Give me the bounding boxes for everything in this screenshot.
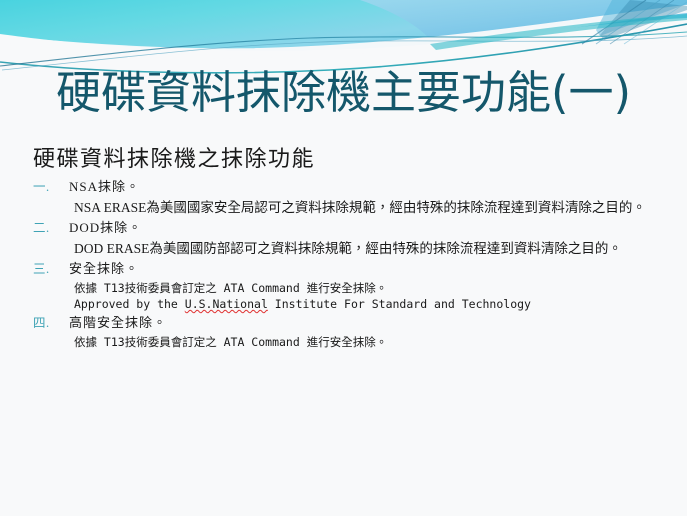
list-marker: 三. — [33, 261, 69, 277]
erase-function-list: 一.NSA抹除。NSA ERASE為美國國家安全局認可之資料抹除規範，經由特殊的… — [33, 177, 673, 350]
list-item-detail: NSA ERASE為美國國家安全局認可之資料抹除規範，經由特殊的抹除流程達到資料… — [74, 198, 673, 217]
list-item-head: 一.NSA抹除。 — [33, 177, 673, 198]
list-marker: 二. — [33, 220, 69, 236]
list-item-title: DOD抹除。 — [69, 220, 142, 235]
list-item-head: 四.高階安全抹除。 — [33, 313, 673, 334]
list-item: 四.高階安全抹除。依據 T13技術委員會訂定之 ATA Command 進行安全… — [33, 313, 673, 350]
list-item: 二.DOD抹除。DOD ERASE為美國國防部認可之資料抹除規範，經由特殊的抹除… — [33, 218, 673, 258]
slide-body: 硬碟資料抹除機之抹除功能 一.NSA抹除。NSA ERASE為美國國家安全局認可… — [33, 146, 673, 351]
list-item: 一.NSA抹除。NSA ERASE為美國國家安全局認可之資料抹除規範，經由特殊的… — [33, 177, 673, 217]
list-item-detail: 依據 T13技術委員會訂定之 ATA Command 進行安全抹除。 — [74, 334, 673, 350]
list-item-detail: Approved by the U.S.National Institute F… — [74, 296, 673, 312]
section-heading: 硬碟資料抹除機之抹除功能 — [33, 146, 673, 172]
list-item-detail: 依據 T13技術委員會訂定之 ATA Command 進行安全抹除。 — [74, 280, 673, 296]
list-item-head: 三.安全抹除。 — [33, 259, 673, 280]
spellcheck-misspelled-word: U.S.National — [185, 297, 268, 311]
title-block: 硬碟資料抹除機主要功能(一) — [0, 68, 687, 118]
slide-title: 硬碟資料抹除機主要功能(一) — [0, 68, 687, 118]
list-item-title: NSA抹除。 — [69, 179, 140, 194]
slide-canvas: 硬碟資料抹除機主要功能(一) 硬碟資料抹除機之抹除功能 一.NSA抹除。NSA … — [0, 0, 687, 516]
list-marker: 四. — [33, 315, 69, 331]
list-item-detail: DOD ERASE為美國國防部認可之資料抹除規範，經由特殊的抹除流程達到資料清除… — [74, 239, 673, 258]
list-item-title: 安全抹除。 — [69, 261, 139, 276]
list-item-head: 二.DOD抹除。 — [33, 218, 673, 239]
list-marker: 一. — [33, 179, 69, 195]
list-item: 三.安全抹除。依據 T13技術委員會訂定之 ATA Command 進行安全抹除… — [33, 259, 673, 312]
list-item-title: 高階安全抹除。 — [69, 315, 167, 330]
